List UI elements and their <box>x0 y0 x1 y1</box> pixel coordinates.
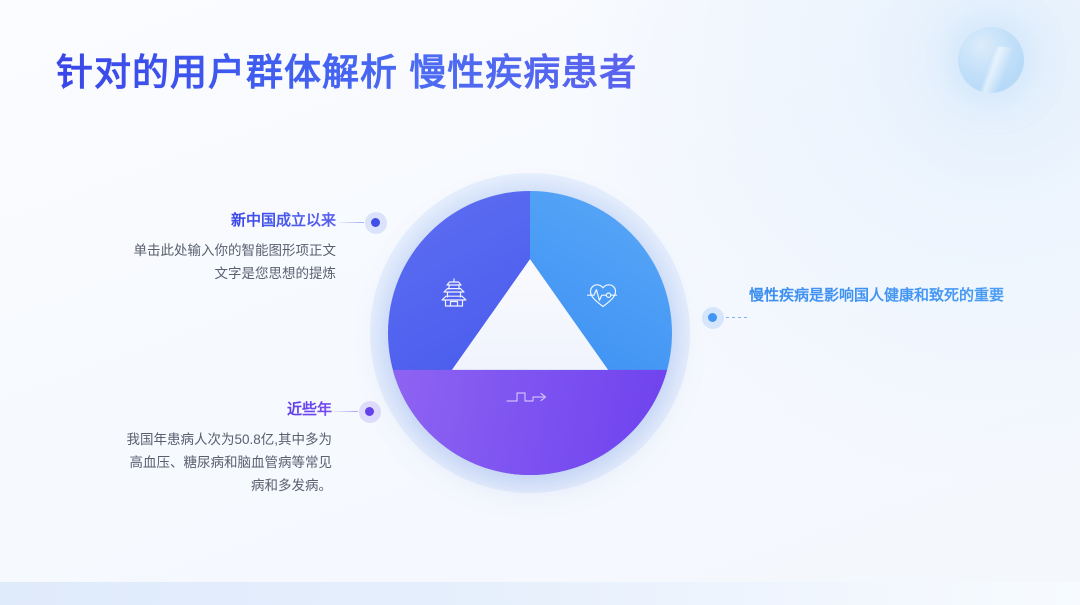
slide-canvas: 针对的用户群体解析 慢性疾病患者 <box>0 0 1080 605</box>
tri-circle-graphic <box>388 191 672 475</box>
connector-line <box>338 222 364 223</box>
connector-right <box>708 313 748 322</box>
temple-icon <box>436 275 472 316</box>
corner-glow <box>850 0 1080 210</box>
footer-band <box>0 582 1080 605</box>
callout-top-left: 新中国成立以来 单击此处输入你的智能图形项正文 文字是您思想的提炼 <box>80 211 336 285</box>
graphic-disc <box>388 191 672 475</box>
connector-dot-bottom-left[interactable] <box>365 407 374 416</box>
callout-bottom-left-body-line3: 病和多发病。 <box>80 474 332 497</box>
callout-bottom-left: 近些年 我国年患病人次为50.8亿,其中多为 高血压、糖尿病和脑血管病等常见 病… <box>80 400 332 497</box>
pulse-step-icon <box>505 387 555 414</box>
heart-pulse-icon <box>586 278 620 317</box>
callout-bottom-left-heading: 近些年 <box>287 401 332 418</box>
connector-bottom-left <box>332 407 374 416</box>
callout-right: 慢性疾病是影响国人健康和致死的重要因素。 <box>749 284 1004 308</box>
connector-line <box>332 411 358 412</box>
callout-right-text: 慢性疾病是影响国人健康和致死的重要因素。 <box>749 284 1004 308</box>
decorative-sphere <box>958 27 1024 93</box>
connector-dot-top-left[interactable] <box>371 218 380 227</box>
callout-bottom-left-body-line1: 我国年患病人次为50.8亿,其中多为 <box>80 428 332 451</box>
callout-top-left-heading: 新中国成立以来 <box>231 212 336 229</box>
page-title: 针对的用户群体解析 慢性疾病患者 <box>56 42 637 96</box>
callout-top-left-body-line2: 文字是您思想的提炼 <box>80 262 336 285</box>
connector-line <box>726 317 748 318</box>
connector-dot-right[interactable] <box>708 313 717 322</box>
callout-bottom-left-body-line2: 高血压、糖尿病和脑血管病等常见 <box>80 451 332 474</box>
callout-top-left-body-line1: 单击此处输入你的智能图形项正文 <box>80 239 336 262</box>
connector-top-left <box>338 218 380 227</box>
